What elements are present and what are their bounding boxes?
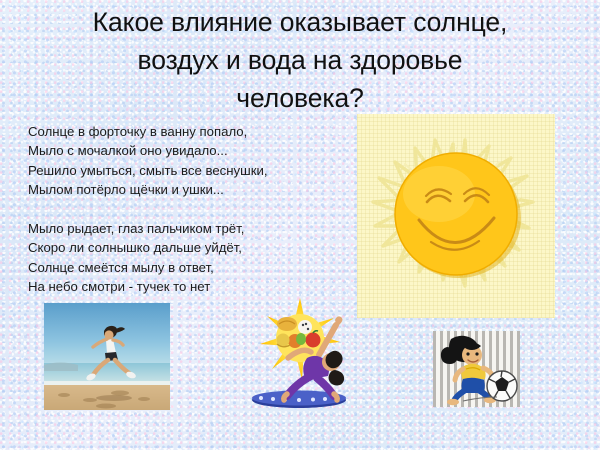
poem-line-1-3: Решило умыться, смыть все веснушки,	[28, 161, 328, 180]
poem-line-1-4: Мылом потёрло щёчки и ушки...	[28, 180, 328, 199]
yoga-exercise-image	[243, 296, 356, 413]
title-line-1: Какое влияние оказывает солнце,	[8, 3, 592, 41]
slide-canvas: Какое влияние оказывает солнце, воздух и…	[0, 0, 600, 450]
poem-text-block: Солнце в форточку в ванну попало, Мыло с…	[28, 122, 328, 297]
poem-stanza-2: Мыло рыдает, глаз пальчиком трёт, Скоро …	[28, 219, 328, 297]
boy-with-soccer-ball-image	[433, 331, 520, 407]
poem-line-2-4: На небо смотри - тучек то нет	[28, 277, 328, 296]
poem-stanza-1: Солнце в форточку в ванну попало, Мыло с…	[28, 122, 328, 200]
poem-line-2-1: Мыло рыдает, глаз пальчиком трёт,	[28, 219, 328, 238]
title-line-3: человека?	[8, 79, 592, 117]
poem-line-2-2: Скоро ли солнышко дальше уйдёт,	[28, 238, 328, 257]
poem-line-1-1: Солнце в форточку в ванну попало,	[28, 122, 328, 141]
smiling-sun-image	[357, 114, 555, 318]
title-line-2: воздух и вода на здоровье	[8, 41, 592, 79]
beach-runner-photo	[44, 303, 170, 410]
page-title: Какое влияние оказывает солнце, воздух и…	[8, 3, 592, 117]
poem-line-2-3: Солнце смеётся мылу в ответ,	[28, 258, 328, 277]
poem-line-1-2: Мыло с мочалкой оно увидало...	[28, 141, 328, 160]
